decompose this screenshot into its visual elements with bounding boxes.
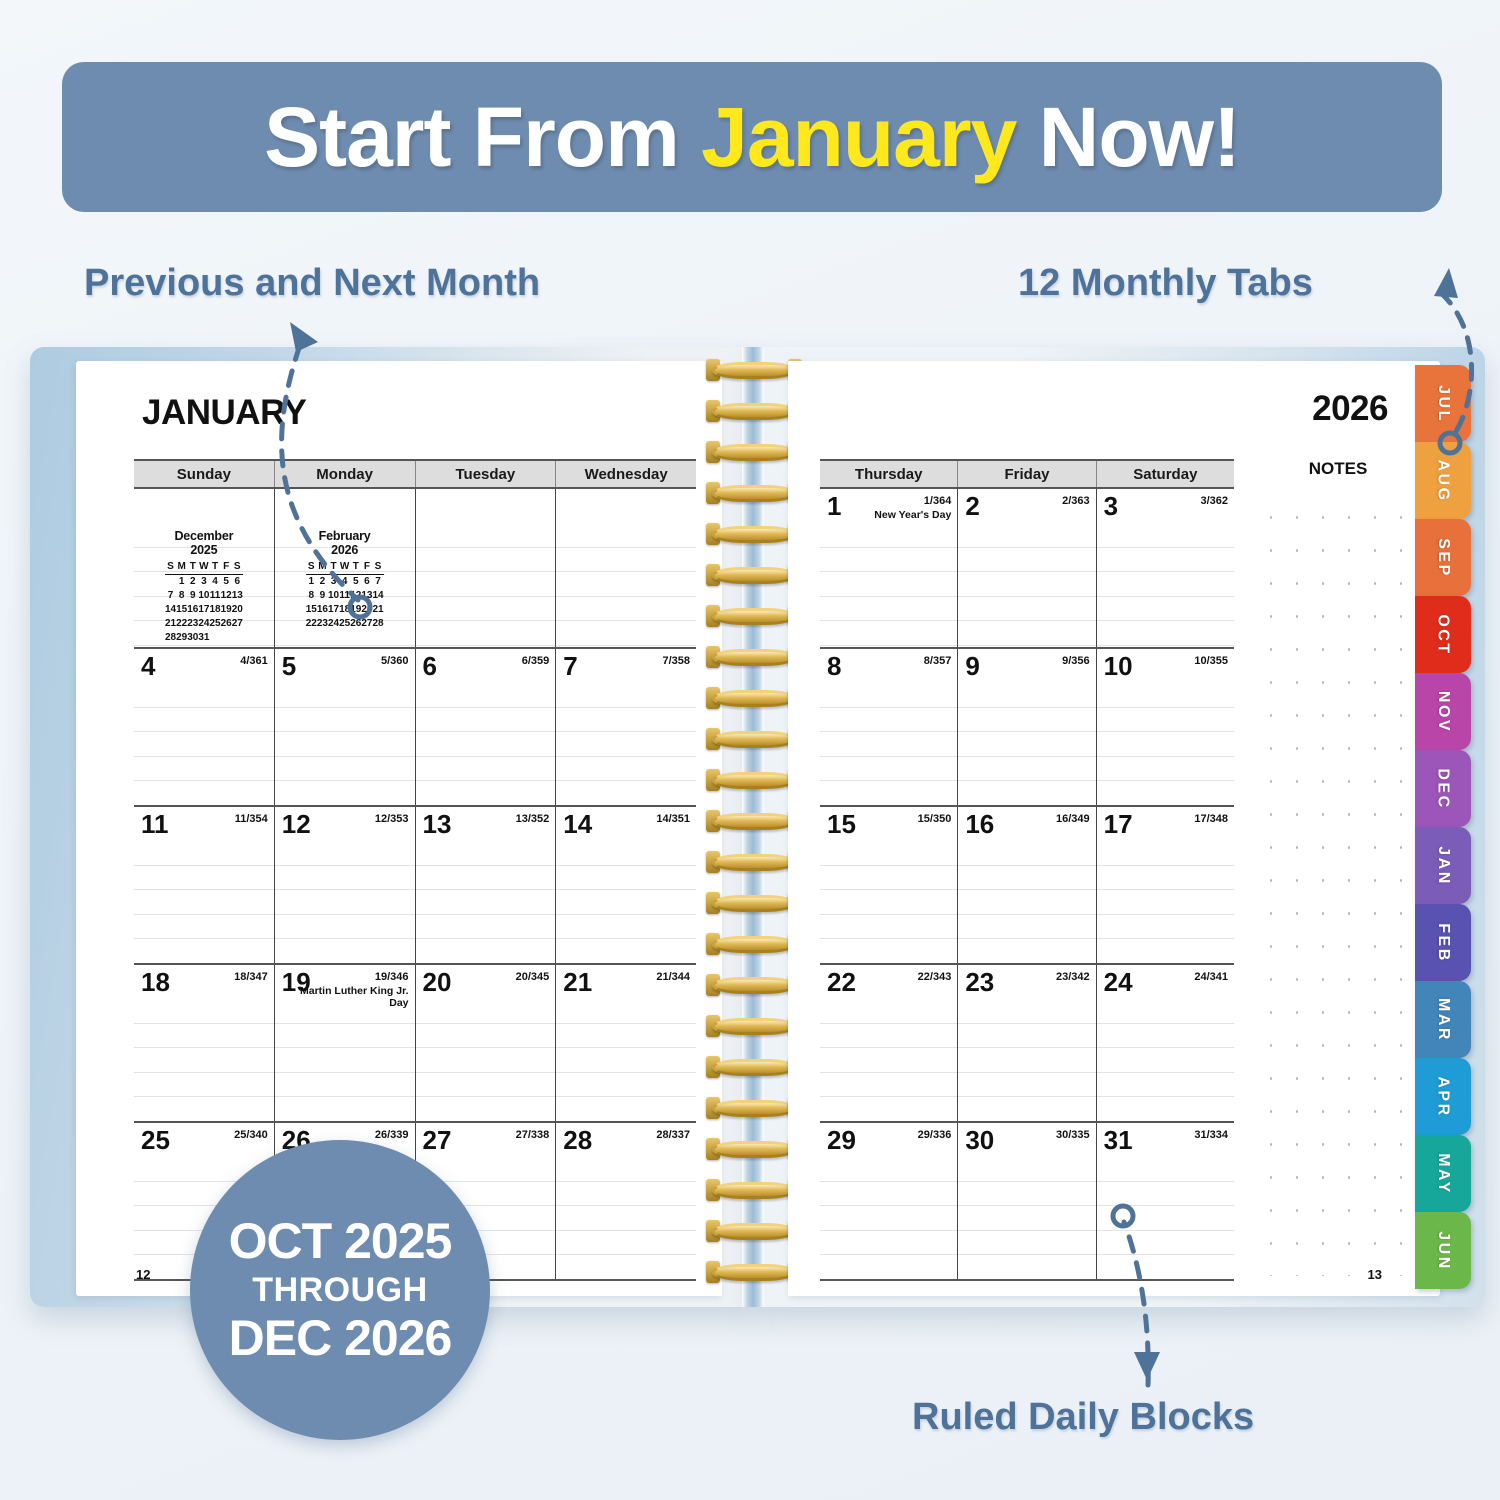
mini-calendar: February 2026SMTWTFS12345678910111213141… <box>306 529 384 630</box>
mini-day: 31 <box>198 630 209 644</box>
day-number: 18 <box>141 967 170 998</box>
ruled-lines <box>1097 683 1234 805</box>
monthly-tab-may[interactable]: MAY <box>1415 1135 1471 1212</box>
mini-day: 22 <box>306 616 317 630</box>
mini-day: 28 <box>165 630 176 644</box>
mini-dow: M <box>176 560 187 574</box>
ruled-lines <box>556 523 696 647</box>
mini-day: 24 <box>328 616 339 630</box>
headline-text: Start From January Now! <box>264 89 1240 186</box>
planner-page-right: 2026 ThursdayFridaySaturday 11/364New Ye… <box>788 361 1440 1296</box>
mini-day: 5 <box>350 574 361 588</box>
mini-day: 25 <box>339 616 350 630</box>
day-of-year: 17/348 <box>1194 813 1228 825</box>
ruled-lines <box>958 841 1095 963</box>
ruled-lines <box>820 999 957 1121</box>
mini-day: 11 <box>339 588 350 602</box>
ruled-lines <box>1097 999 1234 1121</box>
day-number: 5 <box>282 651 296 682</box>
planner-book: JANUARY SundayMondayTuesdayWednesday Dec… <box>30 347 1485 1307</box>
ruled-lines <box>556 999 696 1121</box>
monthly-tab-strip: JULAUGSEPOCTNOVDECJANFEBMARAPRMAYJUN <box>1415 365 1471 1289</box>
ruled-lines <box>556 841 696 963</box>
mini-week-row: 891011121314 <box>306 588 384 602</box>
day-cell-16[interactable]: 1616/349 <box>958 807 1096 963</box>
mini-day: 2 <box>317 574 328 588</box>
day-cell-23[interactable]: 2323/342 <box>958 965 1096 1121</box>
day-header-saturday: Saturday <box>1097 461 1234 487</box>
day-of-year: 9/356 <box>1062 655 1090 667</box>
day-number: 13 <box>423 809 452 840</box>
badge-line-1: OCT 2025 <box>229 1215 452 1268</box>
day-cell-22[interactable]: 2222/343 <box>820 965 958 1121</box>
week-row: 44/36155/36066/35977/358 <box>134 649 696 807</box>
day-of-year: 11/354 <box>235 813 268 825</box>
mini-day: 4 <box>209 574 220 588</box>
mini-day: 9 <box>317 588 328 602</box>
mini-day: 20 <box>232 602 243 616</box>
monthly-tab-label: APR <box>1434 1076 1452 1117</box>
monthly-tab-label: MAY <box>1434 1153 1452 1195</box>
badge-line-3: DEC 2026 <box>229 1312 452 1365</box>
holiday-label: New Year's Day <box>831 509 951 521</box>
day-header-thursday: Thursday <box>820 461 958 487</box>
day-cell-3[interactable]: 33/362 <box>1097 489 1234 647</box>
ruled-lines <box>958 683 1095 805</box>
mini-day: 28 <box>372 616 383 630</box>
mini-dow: W <box>339 560 350 574</box>
mini-day: 5 <box>221 574 232 588</box>
day-number: 28 <box>563 1125 592 1156</box>
ruled-lines <box>416 999 556 1121</box>
ruled-lines <box>820 1157 957 1279</box>
ruled-lines <box>958 999 1095 1121</box>
mini-week-row: 22232425262728 <box>306 616 384 630</box>
mini-day: 21 <box>372 602 383 616</box>
mini-day: 3 <box>198 574 209 588</box>
day-cell-8[interactable]: 88/357 <box>820 649 958 805</box>
day-cell-empty[interactable]: December 2025SMTWTFS01234567891011121314… <box>134 489 275 647</box>
ruled-lines <box>416 683 556 805</box>
monthly-tab-feb[interactable]: FEB <box>1415 904 1471 981</box>
ruled-lines <box>416 841 556 963</box>
mini-day: 16 <box>187 602 198 616</box>
day-header-tuesday: Tuesday <box>416 461 557 487</box>
ruled-lines <box>1097 523 1234 647</box>
calendar-grid-right: ThursdayFridaySaturday 11/364New Year's … <box>820 459 1234 1281</box>
mini-day: 14 <box>372 588 383 602</box>
day-of-year: 7/358 <box>662 655 690 667</box>
mini-day: 3 <box>328 574 339 588</box>
week-row: December 2025SMTWTFS01234567891011121314… <box>134 489 696 649</box>
callout-12-monthly-tabs: 12 Monthly Tabs <box>1018 262 1313 305</box>
day-of-year: 5/360 <box>381 655 409 667</box>
monthly-tab-aug[interactable]: AUG <box>1415 442 1471 519</box>
day-of-year: 18/347 <box>234 971 268 983</box>
mini-day: 13 <box>232 588 243 602</box>
mini-day: 19 <box>350 602 361 616</box>
mini-calendar: December 2025SMTWTFS01234567891011121314… <box>165 529 243 644</box>
day-cell-empty[interactable] <box>556 489 696 647</box>
day-of-year: 14/351 <box>656 813 690 825</box>
mini-day: 22 <box>176 616 187 630</box>
mini-day: 14 <box>165 602 176 616</box>
day-cell-empty[interactable]: February 2026SMTWTFS12345678910111213141… <box>275 489 416 647</box>
day-of-year: 15/350 <box>918 813 952 825</box>
product-feature-image: Start From January Now! Previous and Nex… <box>0 0 1500 1500</box>
mini-day: 18 <box>209 602 220 616</box>
day-of-year: 16/349 <box>1056 813 1090 825</box>
mini-day: 13 <box>361 588 372 602</box>
mini-day: 30 <box>187 630 198 644</box>
mini-day: 25 <box>209 616 220 630</box>
day-header-friday: Friday <box>958 461 1096 487</box>
month-title: JANUARY <box>142 393 306 433</box>
day-number: 4 <box>141 651 155 682</box>
day-number: 3 <box>1104 491 1118 522</box>
day-cell-29[interactable]: 2929/336 <box>820 1123 958 1279</box>
day-of-year: 29/336 <box>918 1129 952 1141</box>
mini-day: 29 <box>176 630 187 644</box>
day-header-monday: Monday <box>275 461 416 487</box>
day-number: 7 <box>563 651 577 682</box>
year-title: 2026 <box>1312 389 1388 429</box>
day-number: 21 <box>563 967 592 998</box>
mini-week-row: 15161718192021 <box>306 602 384 616</box>
day-cell-2[interactable]: 22/363 <box>958 489 1096 647</box>
day-number: 29 <box>827 1125 856 1156</box>
monthly-tab-jul[interactable]: JUL <box>1415 365 1471 442</box>
week-row: 1818/3471919/346Martin Luther King Jr. D… <box>134 965 696 1123</box>
day-number: 15 <box>827 809 856 840</box>
day-of-year: 21/344 <box>656 971 690 983</box>
monthly-tab-label: AUG <box>1434 459 1452 502</box>
day-of-year: 20/345 <box>516 971 550 983</box>
ruled-lines <box>958 523 1095 647</box>
mini-dow: S <box>306 560 317 574</box>
page-number-right: 13 <box>1368 1267 1382 1282</box>
mini-day: 4 <box>339 574 350 588</box>
week-row: 88/35799/3561010/355 <box>820 649 1234 807</box>
ruled-lines <box>958 1157 1095 1279</box>
day-of-year: 26/339 <box>375 1129 409 1141</box>
monthly-tab-label: JUL <box>1434 385 1452 423</box>
week-row: 1515/3501616/3491717/348 <box>820 807 1234 965</box>
day-number: 31 <box>1104 1125 1133 1156</box>
ruled-lines <box>820 841 957 963</box>
day-of-year: 3/362 <box>1200 495 1228 507</box>
mini-dow: F <box>221 560 232 574</box>
day-number: 30 <box>965 1125 994 1156</box>
mini-dow: M <box>317 560 328 574</box>
day-of-year: 25/340 <box>234 1129 268 1141</box>
monthly-tab-nov[interactable]: NOV <box>1415 673 1471 750</box>
monthly-tab-jun[interactable]: JUN <box>1415 1212 1471 1289</box>
day-of-year: 22/343 <box>918 971 952 983</box>
mini-week-row: 21222324252627 <box>165 616 243 630</box>
mini-dow: T <box>187 560 198 574</box>
day-cell-14[interactable]: 1414/351 <box>556 807 696 963</box>
monthly-tab-label: DEC <box>1434 768 1452 809</box>
mini-day: 20 <box>361 602 372 616</box>
notes-dot-grid[interactable] <box>1258 501 1418 1276</box>
mini-dow: T <box>209 560 220 574</box>
monthly-tab-label: SEP <box>1434 538 1452 578</box>
day-cell-17[interactable]: 1717/348 <box>1097 807 1234 963</box>
ruled-lines <box>556 683 696 805</box>
day-cell-7[interactable]: 77/358 <box>556 649 696 805</box>
monthly-tab-label: MAR <box>1434 998 1452 1042</box>
notes-title: NOTES <box>1258 459 1418 485</box>
day-number: 11 <box>141 809 169 840</box>
mini-day: 27 <box>361 616 372 630</box>
monthly-tab-oct[interactable]: OCT <box>1415 596 1471 673</box>
day-cell-13[interactable]: 1313/352 <box>416 807 557 963</box>
day-number: 17 <box>1104 809 1133 840</box>
mini-calendar-title: December 2025 <box>165 529 243 557</box>
day-number: 16 <box>965 809 994 840</box>
week-row: 2222/3432323/3422424/341 <box>820 965 1234 1123</box>
day-cell-20[interactable]: 2020/345 <box>416 965 557 1121</box>
day-cell-19[interactable]: 1919/346Martin Luther King Jr. Day <box>275 965 416 1121</box>
mini-day: 19 <box>221 602 232 616</box>
headline-highlight: January <box>701 90 1016 184</box>
day-cell-31[interactable]: 3131/334 <box>1097 1123 1234 1279</box>
day-cell-5[interactable]: 55/360 <box>275 649 416 805</box>
mini-day: 1 <box>176 574 187 588</box>
monthly-tab-label: JUN <box>1434 1231 1452 1271</box>
day-of-year: 31/334 <box>1194 1129 1228 1141</box>
monthly-tab-label: OCT <box>1434 614 1452 655</box>
ruled-lines <box>1097 1157 1234 1279</box>
headline-part-2: Now! <box>1016 90 1240 184</box>
mini-day: 18 <box>339 602 350 616</box>
arrow-head-tabs <box>1434 268 1458 298</box>
ruled-lines <box>134 841 274 963</box>
headline-banner: Start From January Now! <box>62 62 1442 212</box>
day-of-year: 30/335 <box>1056 1129 1090 1141</box>
day-number: 6 <box>423 651 437 682</box>
mini-day: 7 <box>165 588 176 602</box>
day-number: 27 <box>423 1125 452 1156</box>
day-number: 25 <box>141 1125 170 1156</box>
mini-day: 8 <box>176 588 187 602</box>
mini-day: 7 <box>372 574 383 588</box>
week-row: 1111/3541212/3531313/3521414/351 <box>134 807 696 965</box>
day-cell-1[interactable]: 11/364New Year's Day <box>820 489 958 647</box>
day-of-year: 1/364 <box>924 495 952 507</box>
monthly-tab-apr[interactable]: APR <box>1415 1058 1471 1135</box>
mini-day: 26 <box>221 616 232 630</box>
ruled-lines <box>1097 841 1234 963</box>
holiday-label: Martin Luther King Jr. Day <box>289 985 409 1009</box>
mini-day: 21 <box>165 616 176 630</box>
mini-day: 26 <box>350 616 361 630</box>
monthly-tab-dec[interactable]: DEC <box>1415 750 1471 827</box>
notes-section: NOTES <box>1258 459 1418 1276</box>
mini-week-row: 28293031000 <box>165 630 243 644</box>
day-cell-11[interactable]: 1111/354 <box>134 807 275 963</box>
day-of-year: 28/337 <box>656 1129 690 1141</box>
headline-part-1: Start From <box>264 90 701 184</box>
mini-day: 16 <box>317 602 328 616</box>
day-of-year: 24/341 <box>1194 971 1228 983</box>
day-number: 14 <box>563 809 592 840</box>
mini-week-row: 0123456 <box>165 574 243 588</box>
mini-day: 10 <box>198 588 209 602</box>
day-cell-28[interactable]: 2828/337 <box>556 1123 696 1279</box>
callout-previous-next-month: Previous and Next Month <box>84 262 540 305</box>
day-cell-18[interactable]: 1818/347 <box>134 965 275 1121</box>
monthly-tab-label: JAN <box>1434 846 1452 886</box>
mini-week-row: 78910111213 <box>165 588 243 602</box>
calendar-grid-left: SundayMondayTuesdayWednesday December 20… <box>134 459 696 1281</box>
day-of-year: 4/361 <box>240 655 268 667</box>
day-of-year: 6/359 <box>522 655 550 667</box>
date-range-badge: OCT 2025 THROUGH DEC 2026 <box>190 1140 490 1440</box>
day-number: 20 <box>423 967 452 998</box>
mini-day: 15 <box>176 602 187 616</box>
arrow-head-ruled <box>1134 1352 1160 1380</box>
monthly-tab-label: NOV <box>1434 690 1452 732</box>
day-number: 10 <box>1104 651 1133 682</box>
day-of-year: 19/346 <box>375 971 409 983</box>
mini-day: 6 <box>361 574 372 588</box>
mini-day: 23 <box>317 616 328 630</box>
week-row: 2929/3363030/3353131/334 <box>820 1123 1234 1281</box>
ruled-lines <box>275 683 415 805</box>
week-rows-right: 11/364New Year's Day22/36333/36288/35799… <box>820 489 1234 1281</box>
day-of-year: 12/353 <box>375 813 409 825</box>
mini-dow: S <box>165 560 176 574</box>
page-number-left: 12 <box>136 1267 150 1282</box>
day-number: 9 <box>965 651 979 682</box>
mini-day: 15 <box>306 602 317 616</box>
monthly-tab-sep[interactable]: SEP <box>1415 519 1471 596</box>
mini-week-row: 14151617181920 <box>165 602 243 616</box>
monthly-tab-label: FEB <box>1434 923 1452 963</box>
mini-day: 8 <box>306 588 317 602</box>
day-of-year: 10/355 <box>1194 655 1228 667</box>
day-cell-30[interactable]: 3030/335 <box>958 1123 1096 1279</box>
mini-week-row: 1234567 <box>306 574 384 588</box>
mini-day: 9 <box>187 588 198 602</box>
mini-day: 2 <box>187 574 198 588</box>
week-row: 11/364New Year's Day22/36333/362 <box>820 489 1234 649</box>
mini-day: 17 <box>328 602 339 616</box>
mini-day: 12 <box>350 588 361 602</box>
mini-calendar-title: February 2026 <box>306 529 384 557</box>
mini-dow: F <box>361 560 372 574</box>
day-cell-21[interactable]: 2121/344 <box>556 965 696 1121</box>
day-of-week-header-left: SundayMondayTuesdayWednesday <box>134 461 696 489</box>
day-cell-15[interactable]: 1515/350 <box>820 807 958 963</box>
mini-day: 27 <box>232 616 243 630</box>
day-number: 8 <box>827 651 841 682</box>
day-of-week-header-right: ThursdayFridaySaturday <box>820 461 1234 489</box>
mini-day: 17 <box>198 602 209 616</box>
callout-ruled-daily-blocks: Ruled Daily Blocks <box>912 1396 1254 1439</box>
day-cell-24[interactable]: 2424/341 <box>1097 965 1234 1121</box>
day-cell-4[interactable]: 44/361 <box>134 649 275 805</box>
monthly-tab-mar[interactable]: MAR <box>1415 981 1471 1058</box>
day-of-year: 2/363 <box>1062 495 1090 507</box>
day-cell-10[interactable]: 1010/355 <box>1097 649 1234 805</box>
ruled-lines <box>275 999 415 1121</box>
day-cell-9[interactable]: 99/356 <box>958 649 1096 805</box>
day-header-sunday: Sunday <box>134 461 275 487</box>
monthly-tab-jan[interactable]: JAN <box>1415 827 1471 904</box>
day-cell-6[interactable]: 66/359 <box>416 649 557 805</box>
mini-day: 1 <box>306 574 317 588</box>
ruled-lines <box>820 683 957 805</box>
day-of-year: 23/342 <box>1056 971 1090 983</box>
day-number: 24 <box>1104 967 1133 998</box>
ruled-lines <box>556 1157 696 1279</box>
day-number: 23 <box>965 967 994 998</box>
mini-day: 12 <box>221 588 232 602</box>
mini-dow: S <box>232 560 243 574</box>
day-of-year: 8/357 <box>924 655 952 667</box>
ruled-lines <box>134 999 274 1121</box>
ruled-lines <box>820 523 957 647</box>
day-number: 22 <box>827 967 856 998</box>
mini-dow: W <box>198 560 209 574</box>
mini-day: 6 <box>232 574 243 588</box>
day-of-year: 13/352 <box>516 813 550 825</box>
ruled-lines <box>134 683 274 805</box>
day-header-wednesday: Wednesday <box>556 461 696 487</box>
mini-day: 11 <box>209 588 220 602</box>
day-cell-empty[interactable] <box>416 489 557 647</box>
mini-day: 23 <box>187 616 198 630</box>
mini-dow: T <box>350 560 361 574</box>
mini-dow: T <box>328 560 339 574</box>
ruled-lines <box>416 523 556 647</box>
day-number: 12 <box>282 809 311 840</box>
mini-day: 24 <box>198 616 209 630</box>
day-number: 2 <box>965 491 979 522</box>
day-cell-12[interactable]: 1212/353 <box>275 807 416 963</box>
ruled-lines <box>275 841 415 963</box>
day-of-year: 27/338 <box>516 1129 550 1141</box>
mini-dow: S <box>372 560 383 574</box>
mini-day: 10 <box>328 588 339 602</box>
badge-line-2: THROUGH <box>252 1268 427 1312</box>
